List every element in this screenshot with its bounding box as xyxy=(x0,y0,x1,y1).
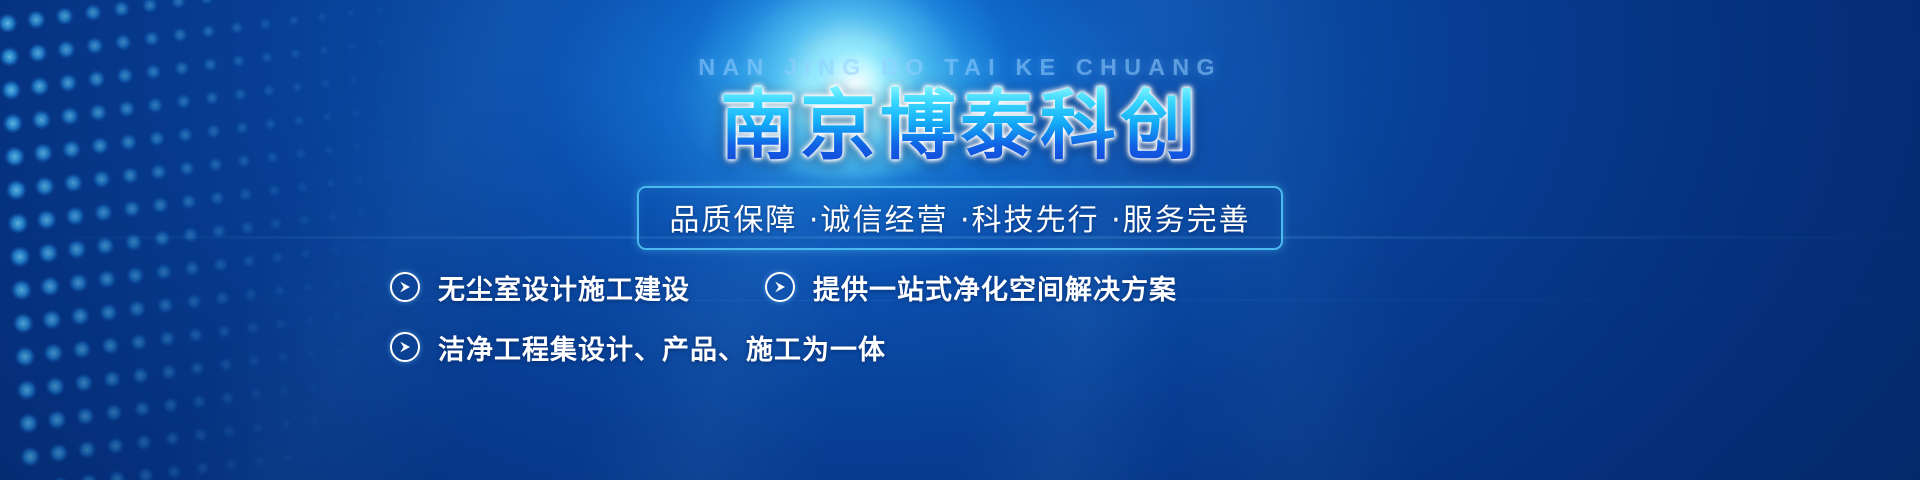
company-title: 南京博泰科创 xyxy=(720,86,1200,167)
circle-arrow-right-icon xyxy=(390,272,420,302)
slogan-container: 品质保障 ·诚信经营 ·科技先行 ·服务完善 xyxy=(0,186,1920,250)
promo-banner: NAN JING BO TAI KE CHUANG 南京博泰科创 品质保障 ·诚… xyxy=(0,0,1920,480)
slogan-text: 品质保障 ·诚信经营 ·科技先行 ·服务完善 xyxy=(669,203,1250,238)
feature-row-2: 洁净工程集设计、产品、施工为一体 xyxy=(390,320,1390,374)
circle-arrow-right-icon xyxy=(390,332,420,362)
feature-item-1: 无尘室设计施工建设 xyxy=(390,268,765,307)
feature-label-2: 提供一站式净化空间解决方案 xyxy=(813,268,1177,307)
feature-item-3: 洁净工程集设计、产品、施工为一体 xyxy=(390,328,886,367)
feature-label-3: 洁净工程集设计、产品、施工为一体 xyxy=(438,328,886,367)
circle-arrow-right-icon xyxy=(765,272,795,302)
pinyin-subtitle: NAN JING BO TAI KE CHUANG xyxy=(0,54,1920,81)
feature-item-2: 提供一站式净化空间解决方案 xyxy=(765,268,1177,307)
feature-bullets: 无尘室设计施工建设 提供一站式净化空间解决方案 xyxy=(390,260,1390,380)
title-container: 南京博泰科创 xyxy=(0,86,1920,176)
slogan-box: 品质保障 ·诚信经营 ·科技先行 ·服务完善 xyxy=(637,186,1282,250)
feature-row-1: 无尘室设计施工建设 提供一站式净化空间解决方案 xyxy=(390,260,1390,314)
feature-label-1: 无尘室设计施工建设 xyxy=(438,268,690,307)
banner-content: NAN JING BO TAI KE CHUANG 南京博泰科创 品质保障 ·诚… xyxy=(0,0,1920,480)
